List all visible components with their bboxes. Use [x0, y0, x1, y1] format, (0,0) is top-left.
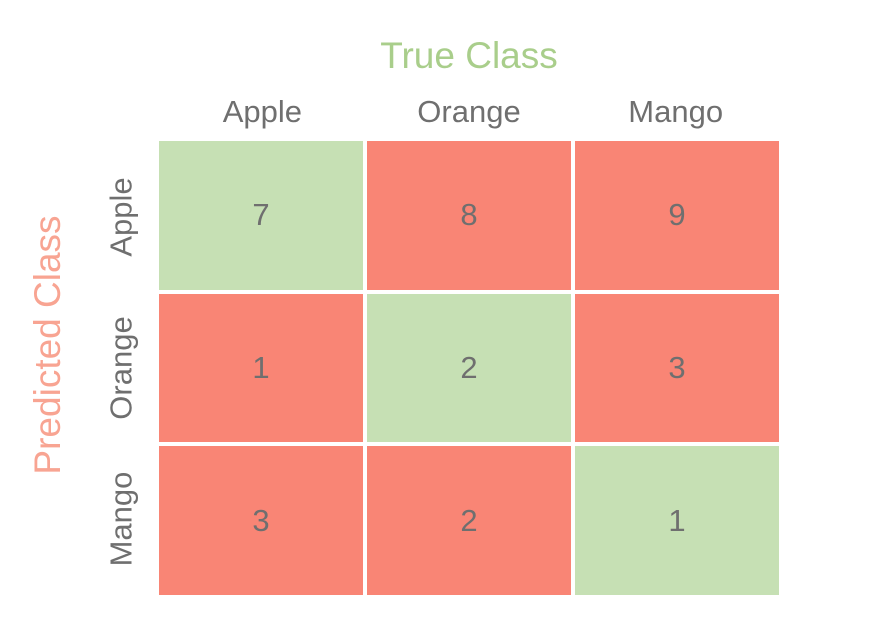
- column-header-row: Apple Orange Mango: [159, 90, 779, 134]
- matrix-cell-mango-mango: 1: [575, 446, 779, 595]
- matrix-cell-orange-mango: 3: [575, 294, 779, 443]
- confusion-matrix-figure: True Class Apple Orange Mango Predicted …: [0, 0, 875, 641]
- row-header-column: Apple Orange Mango: [98, 141, 144, 595]
- row-header-apple: Apple: [106, 177, 137, 256]
- row-header-apple-cell: Apple: [98, 141, 144, 292]
- matrix-cell-apple-orange: 8: [367, 141, 571, 290]
- row-header-orange-cell: Orange: [98, 292, 144, 443]
- matrix-cell-mango-orange: 2: [367, 446, 571, 595]
- matrix-cell-mango-apple: 3: [159, 446, 363, 595]
- column-header-apple: Apple: [159, 90, 366, 134]
- column-header-mango: Mango: [572, 90, 779, 134]
- matrix-cell-orange-orange: 2: [367, 294, 571, 443]
- matrix-grid: 7 8 9 1 2 3 3 2 1: [159, 141, 779, 595]
- row-header-mango: Mango: [106, 472, 137, 567]
- true-class-axis-title: True Class: [159, 33, 779, 79]
- matrix-cell-orange-apple: 1: [159, 294, 363, 443]
- predicted-class-axis-title: Predicted Class: [25, 85, 71, 605]
- matrix-cell-apple-mango: 9: [575, 141, 779, 290]
- column-header-orange: Orange: [366, 90, 573, 134]
- row-header-mango-cell: Mango: [98, 444, 144, 595]
- row-header-orange: Orange: [106, 316, 137, 419]
- matrix-cell-apple-apple: 7: [159, 141, 363, 290]
